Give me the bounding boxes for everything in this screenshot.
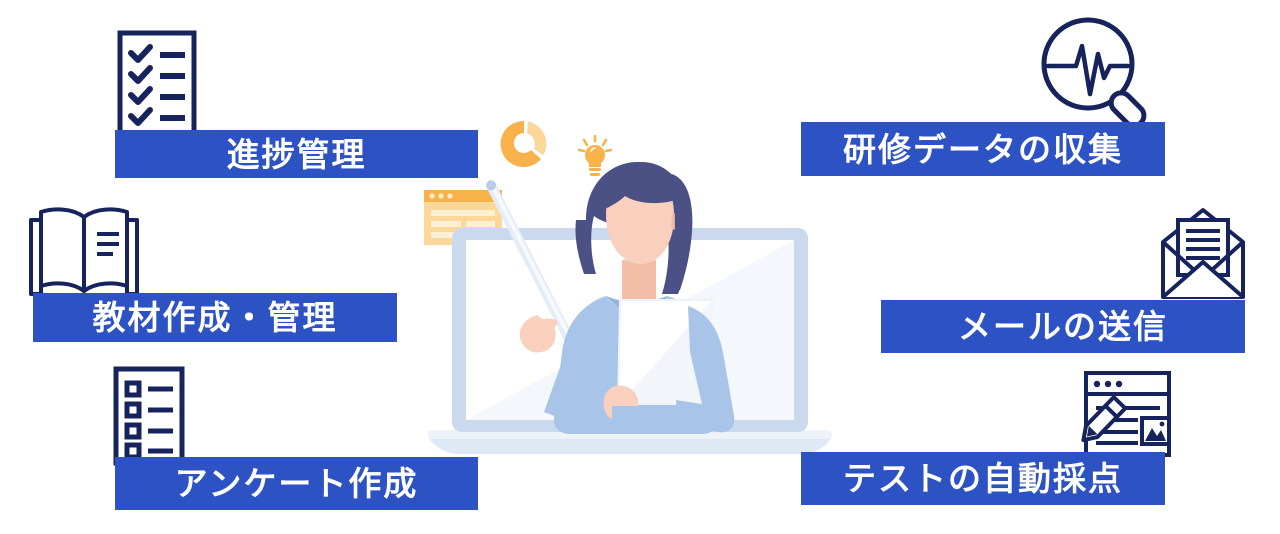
survey-checkbox-list-icon: [113, 366, 193, 466]
label-text-survey-creation: アンケート作成: [175, 467, 419, 500]
label-text-material-creation-management: 教材作成・管理: [93, 301, 338, 334]
instructor-on-laptop-illustration: [420, 110, 840, 470]
label-text-automatic-test-scoring: テストの自動採点: [843, 462, 1123, 495]
label-bar-automatic-test-scoring[interactable]: テストの自動採点: [801, 452, 1165, 505]
label-bar-training-data-collection[interactable]: 研修データの収集: [801, 122, 1165, 176]
label-bar-material-creation-management[interactable]: 教材作成・管理: [33, 293, 397, 342]
infographic-canvas: 進捗管理 教材作成・管理 アンケート作成 研修データの収集 メールの送信 テスト…: [0, 0, 1280, 534]
label-bar-survey-creation[interactable]: アンケート作成: [115, 457, 478, 510]
checklist-document-icon: [117, 30, 197, 137]
open-book-icon: [27, 203, 141, 301]
magnifier-analytics-icon: [1040, 16, 1154, 130]
label-text-progress-management: 進捗管理: [227, 138, 367, 171]
label-text-send-email: メールの送信: [958, 310, 1168, 343]
label-bar-progress-management[interactable]: 進捗管理: [115, 130, 478, 178]
open-envelope-mail-icon: [1160, 202, 1246, 300]
label-bar-send-email[interactable]: メールの送信: [881, 300, 1245, 353]
label-text-training-data-collection: 研修データの収集: [843, 133, 1123, 166]
browser-pencil-edit-icon: [1068, 370, 1172, 458]
